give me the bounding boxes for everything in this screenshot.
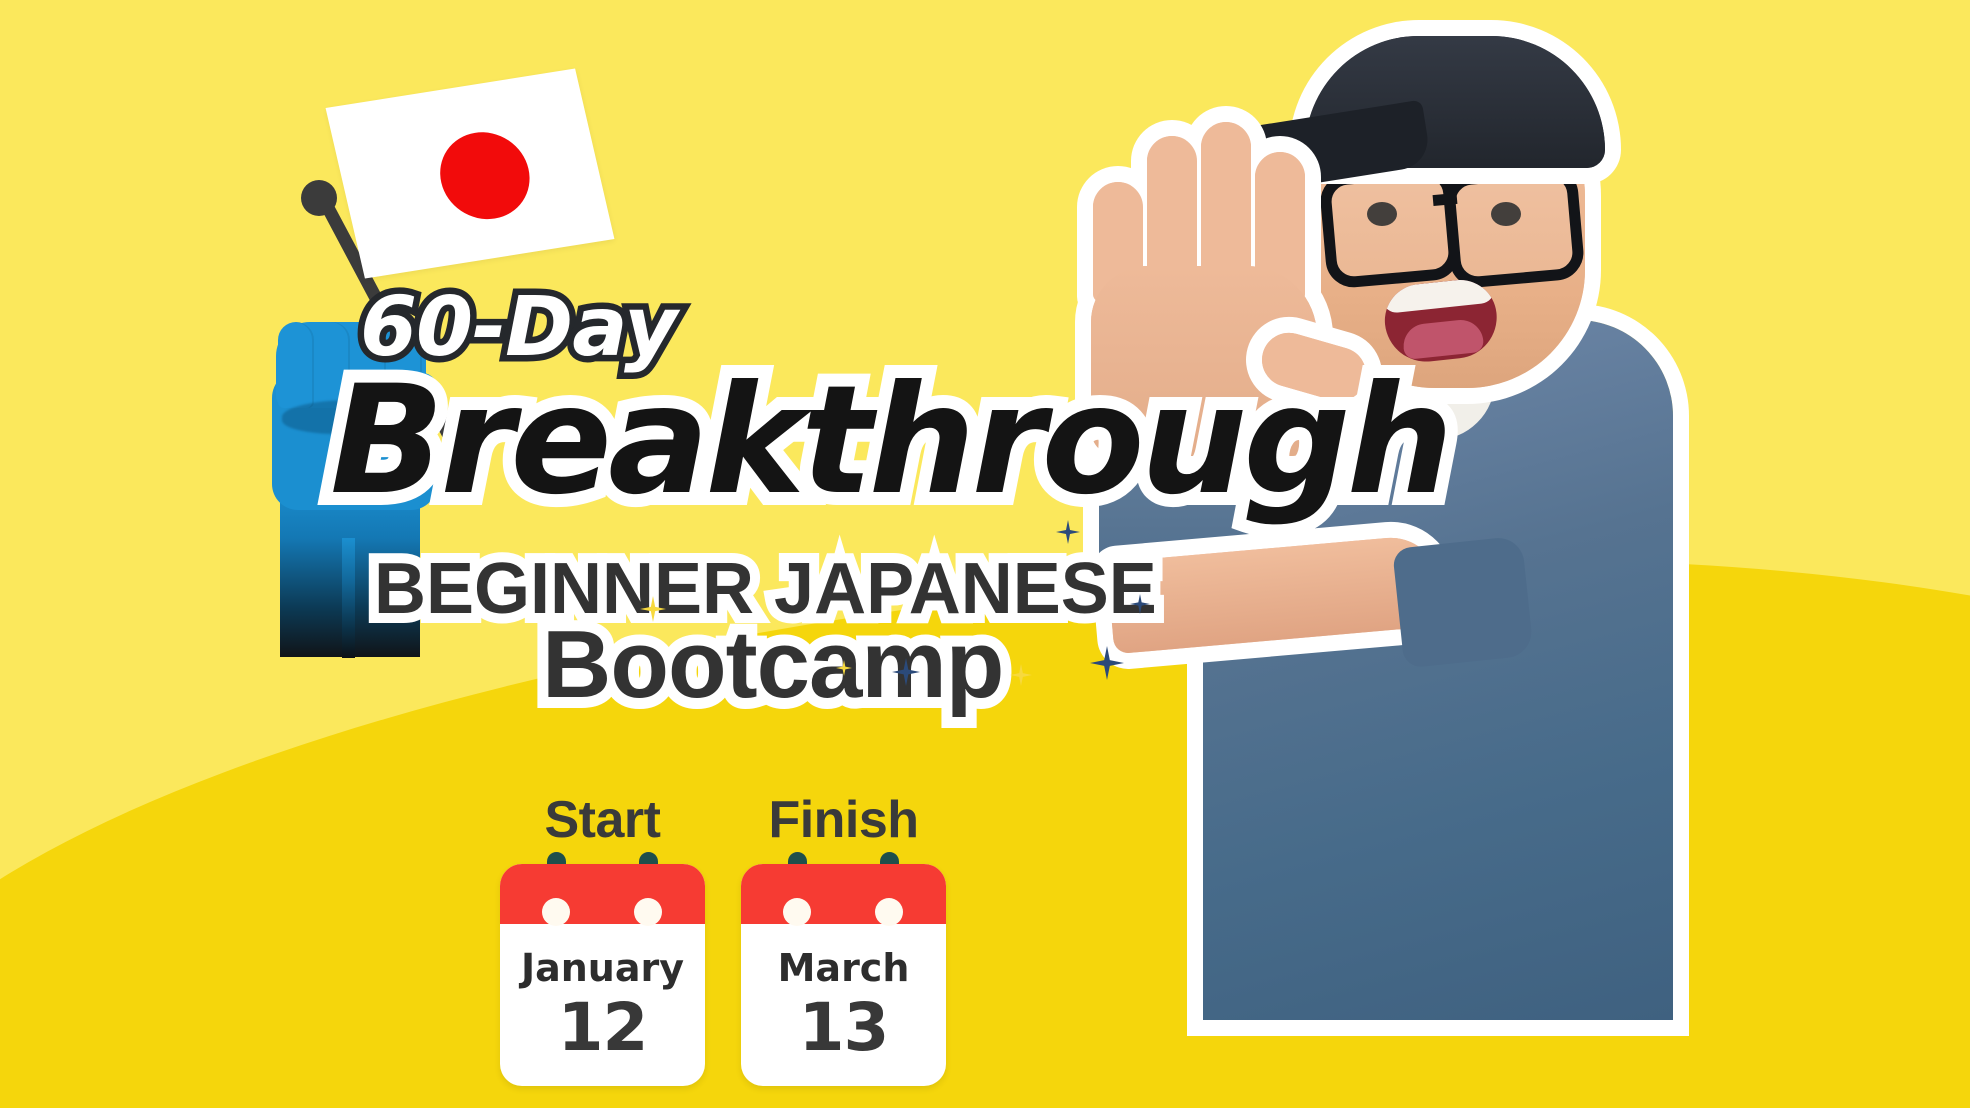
presenting-hand-fill [1107,534,1444,654]
subtitle-bootcamp: Bootcamp [542,610,1003,720]
calendar-start[interactable]: January 12 [500,864,705,1086]
fist-forearm-notch [342,538,355,658]
calendar-header [741,864,946,924]
flag-cloth [326,68,615,278]
calendar-day: 12 [558,995,648,1061]
headline-breakthrough: Breakthrough [330,354,1449,528]
calendar-month: March [778,949,910,987]
calendar-ring [783,898,811,926]
calendar-ring [542,898,570,926]
calendar-ring [634,898,662,926]
calendar-header [500,864,705,924]
finish-label: Finish [768,790,918,850]
calendar-day: 13 [799,995,889,1061]
thumbnail-canvas: 60-Day Breakthrough BEGINNER JAPANESE Bo… [0,0,1970,1108]
glasses-icon [1442,164,1585,289]
fist-finger [278,322,314,408]
start-date-group: Start January 12 [500,790,705,1086]
calendar-finish[interactable]: March 13 [741,864,946,1086]
flag-sun-disc [431,126,538,226]
calendar-body: March 13 [741,924,946,1086]
flag-finial-icon [301,180,337,216]
glasses-bridge [1433,193,1458,206]
start-label: Start [545,790,661,850]
calendar-body: January 12 [500,924,705,1086]
presenting-hand [1110,528,1460,688]
date-cards: Start January 12 Finish [500,790,946,1086]
calendar-month: January [521,949,684,987]
calendar-ring [875,898,903,926]
finish-date-group: Finish March 13 [741,790,946,1086]
presenting-hand-cuff [1392,536,1534,669]
